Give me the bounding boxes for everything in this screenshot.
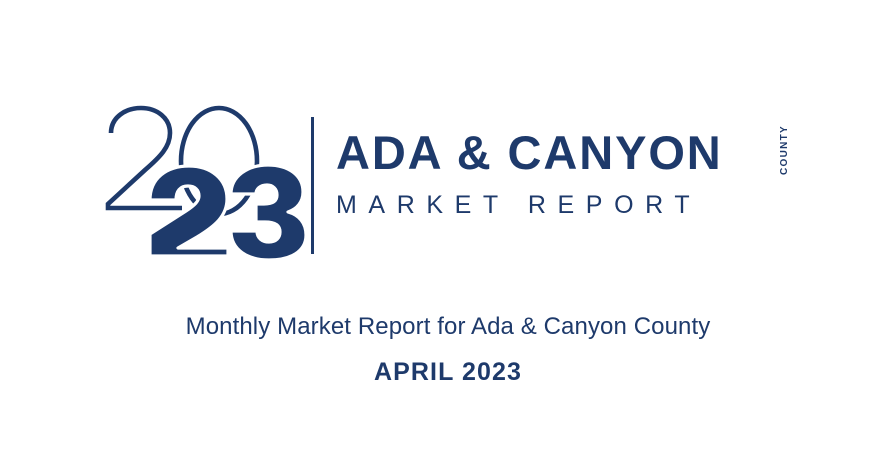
report-cover-page: ADA & CANYON COUNTY MARKET REPORT Monthl… (0, 0, 896, 462)
logo-title-row: ADA & CANYON COUNTY (336, 126, 796, 180)
solid-three-glyph (231, 165, 306, 260)
brand-logo-lockup: ADA & CANYON COUNTY MARKET REPORT (0, 0, 896, 270)
logo-divider-rule (311, 117, 314, 254)
logo-subtitle: MARKET REPORT (336, 180, 796, 220)
logo-county-label: COUNTY (779, 125, 790, 175)
logo-title: ADA & CANYON (336, 126, 723, 180)
cover-caption-block: Monthly Market Report for Ada & Canyon C… (0, 310, 896, 388)
year-2023-logo-mark (100, 104, 310, 260)
logo-wordmark: ADA & CANYON COUNTY MARKET REPORT (336, 126, 796, 220)
logo-county-tag: COUNTY (779, 79, 790, 129)
report-description: Monthly Market Report for Ada & Canyon C… (0, 310, 896, 344)
solid-two-glyph (150, 166, 228, 256)
report-date: APRIL 2023 (0, 344, 896, 388)
